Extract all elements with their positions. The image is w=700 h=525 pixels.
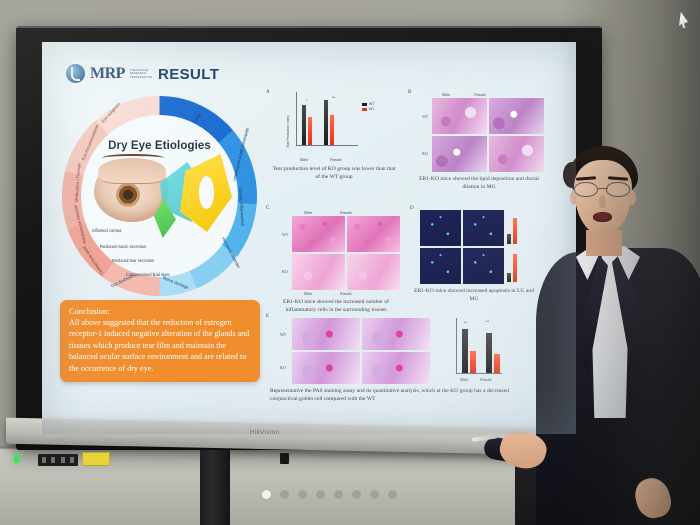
panel-c-caption: ER1-KO mice showed the increased number … <box>270 299 402 314</box>
legend-item-wt: WT <box>362 102 374 106</box>
panel-b-col-male: Male <box>442 92 450 97</box>
panel-b-col-female: Female <box>474 92 486 97</box>
panel-d-mini-charts <box>507 210 517 284</box>
panel-c: C Male Female WT KO <box>270 210 410 314</box>
panel-c-row-ko: KO <box>282 269 290 274</box>
control-button-2[interactable] <box>51 457 55 463</box>
panel-e-row-wt: WT <box>280 332 288 337</box>
goblet-significance-female: ** <box>486 319 489 324</box>
control-button-1[interactable] <box>42 457 46 463</box>
tunel-image-ko-mg <box>463 248 504 284</box>
display-stand-column <box>200 450 230 525</box>
goblet-significance-male: ** <box>464 320 467 325</box>
logo-subtext-line-3: PRESENTATION <box>130 77 152 80</box>
mini-bar-wt-mg <box>507 273 511 282</box>
inner-label-reduced-mucin: Reduced mucin secretion <box>100 244 146 249</box>
goblet-chart-bars <box>462 325 506 373</box>
inner-label-reduced-tear: Reduced tear secretion <box>112 258 154 263</box>
goblet-bar-wt-female <box>486 333 492 373</box>
slide-title: RESULT <box>158 66 219 83</box>
panel-c-row-wt: WT <box>282 232 290 237</box>
legend-swatch-ko <box>362 108 367 111</box>
histology-image-he-ko-female <box>347 254 400 290</box>
logo-subtext: THE MASTER RESEARCH PRESENTATION <box>130 68 152 80</box>
chart-y-axis-label: Tear Production (mm) <box>286 115 290 148</box>
indicator-dot-8 <box>388 490 397 499</box>
panel-c-col-male: Male <box>304 210 312 215</box>
control-button-3[interactable] <box>61 457 65 463</box>
panel-b-row-wt: WT <box>422 114 430 119</box>
display-control-panel[interactable] <box>38 454 78 466</box>
inner-label-inflamed-cornea: Inflamed cornea <box>92 228 121 233</box>
display-brand-label: HikVision <box>250 430 279 436</box>
panel-d-image-grid <box>420 210 504 284</box>
chart-y-axis <box>296 92 297 146</box>
panel-b-letter: B <box>408 90 411 95</box>
dry-eye-etiologies-diagram: Dry Eye Etiologies Eye surgeries Eye Acc… <box>62 96 257 296</box>
logo-text: MRP <box>90 65 125 83</box>
mini-chart-lg <box>507 212 517 244</box>
panel-c-bottom-female: Female <box>340 291 352 296</box>
indicator-dot-3 <box>298 490 307 499</box>
histology-image-he-wt-female <box>347 216 400 252</box>
histology-image-mg-wt-female <box>489 98 544 134</box>
goblet-bar-ko-female <box>494 354 500 373</box>
panel-c-letter: C <box>266 206 269 211</box>
histology-image-mg-wt-male <box>432 98 487 134</box>
mini-chart-mg <box>507 250 517 282</box>
legend-swatch-wt <box>362 103 367 106</box>
panel-a: A Tear Production (mm) * <box>270 92 410 181</box>
panel-e-row-ko: KO <box>280 365 288 370</box>
chart-x-axis <box>296 145 358 146</box>
power-led-indicator <box>14 455 19 463</box>
logo-orb-icon <box>66 64 85 83</box>
significance-male: * <box>306 98 308 103</box>
panel-a-caption: Tear production level of KO group was lo… <box>270 166 398 181</box>
tunel-image-wt-mg <box>420 248 461 284</box>
chart-legend: WT KO <box>362 102 374 111</box>
conclusion-text: All above suggested that the reduction o… <box>69 317 252 374</box>
bar-ko-female <box>330 115 334 145</box>
significance-female: ** <box>332 95 335 100</box>
panel-e-letter: E <box>266 314 269 319</box>
conclusion-heading: Conclusion: <box>69 307 252 316</box>
conclusion-box: Conclusion: All above suggested that the… <box>60 300 260 382</box>
goblet-cell-bar-chart: ** ** Male Female <box>450 318 520 384</box>
indicator-dot-1 <box>262 490 271 499</box>
panel-d-letter: D <box>410 206 414 211</box>
tear-production-bar-chart: Tear Production (mm) * ** <box>288 92 392 156</box>
control-button-4[interactable] <box>70 457 74 463</box>
bar-ko-male <box>308 117 312 145</box>
goblet-bar-wt-male <box>462 329 468 373</box>
mini-bar-ko-lg <box>513 218 517 244</box>
pas-image-ko-female <box>362 352 430 384</box>
indicator-dot-7 <box>370 490 379 499</box>
panel-e-caption: Representative the PAS staining assay an… <box>270 388 520 403</box>
interactive-display[interactable]: MRP THE MASTER RESEARCH PRESENTATION RES… <box>16 26 602 450</box>
indicator-dot-6 <box>352 490 361 499</box>
legend-label-wt: WT <box>369 102 374 106</box>
goblet-chart-x-axis <box>456 373 502 374</box>
presentation-slide: MRP THE MASTER RESEARCH PRESENTATION RES… <box>42 42 576 434</box>
ir-receiver-window <box>280 453 289 464</box>
tunel-image-wt-lg <box>420 210 461 246</box>
histology-image-he-wt-male <box>292 216 345 252</box>
goblet-tick-female: Female <box>480 377 492 382</box>
display-screen[interactable]: MRP THE MASTER RESEARCH PRESENTATION RES… <box>42 42 576 434</box>
panel-c-image-grid <box>292 216 400 290</box>
panel-a-letter: A <box>266 90 270 95</box>
bar-wt-male <box>302 105 306 145</box>
wall-shadow-overlay <box>560 0 700 525</box>
eye-lash-shape <box>102 154 164 162</box>
chart-tick-female: Female <box>330 157 342 162</box>
chart-tick-male: Male <box>300 157 308 162</box>
indicator-dot-2 <box>280 490 289 499</box>
goblet-bar-ko-male <box>470 351 476 373</box>
mini-bar-ko-mg <box>513 254 517 282</box>
bar-wt-female <box>324 100 328 145</box>
panel-d-caption: ER1-KO mice showed increased apoptosis i… <box>414 288 534 303</box>
tunel-image-ko-lg <box>463 210 504 246</box>
legend-item-ko: KO <box>362 107 374 111</box>
legend-label-ko: KO <box>369 107 374 111</box>
pas-image-wt-female <box>362 318 430 350</box>
panel-c-bottom-male: Male <box>304 291 312 296</box>
mini-bar-wt-lg <box>507 234 511 244</box>
panel-c-col-female: Female <box>340 210 352 215</box>
goblet-chart-y-axis <box>456 318 457 374</box>
panel-b-row-ko: KO <box>422 151 430 156</box>
inner-label-compromised-lipid: Compromised lipid layer <box>126 272 170 277</box>
mrp-logo: MRP THE MASTER RESEARCH PRESENTATION <box>66 64 152 83</box>
histology-image-mg-ko-male <box>432 136 487 172</box>
screenshot-scene: MRP THE MASTER RESEARCH PRESENTATION RES… <box>0 0 700 525</box>
pas-image-wt-male <box>292 318 360 350</box>
indicator-dot-4 <box>316 490 325 499</box>
warning-sticker <box>82 452 110 466</box>
indicator-dot-5 <box>334 490 343 499</box>
panel-e-image-grid <box>292 318 430 384</box>
histology-image-he-ko-male <box>292 254 345 290</box>
pas-image-ko-male <box>292 352 360 384</box>
chart-bars <box>302 101 358 145</box>
goblet-tick-male: Male <box>460 377 468 382</box>
indicator-dots <box>262 490 397 499</box>
bezel-highlight <box>16 26 602 28</box>
